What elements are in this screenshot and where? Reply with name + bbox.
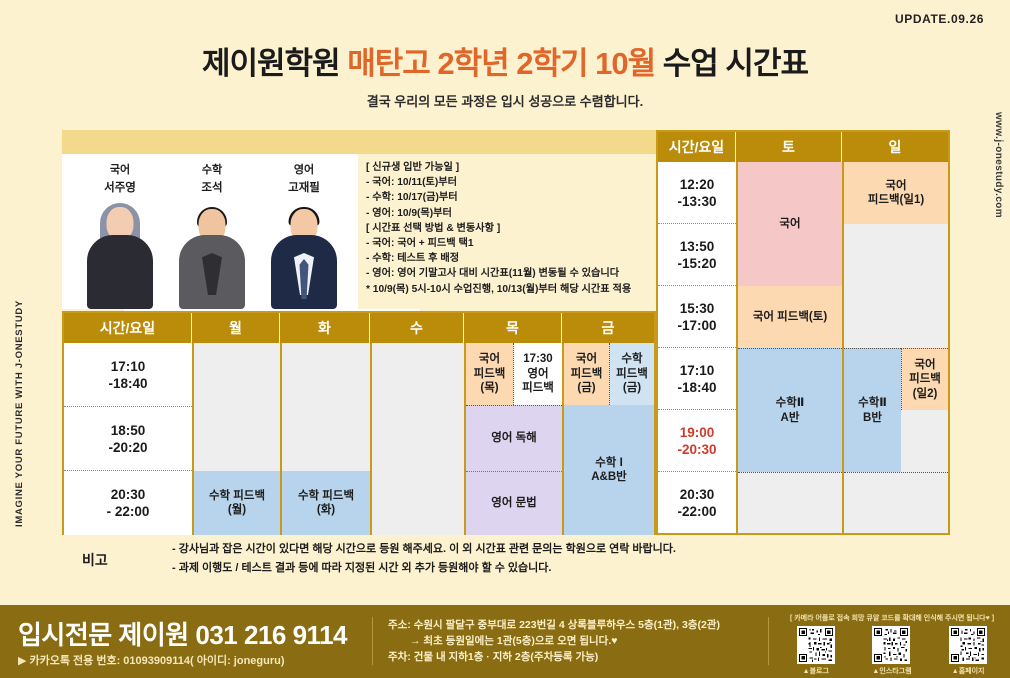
cell-sun-empty-mid xyxy=(901,410,948,472)
instructor-name: 서주영 xyxy=(74,179,166,195)
weekend-time-row-2: 13:50 -15:20 xyxy=(658,224,736,286)
qr-section: [ 카메라 어플로 접속 희망 큐알 코드를 확대해 인식해 주시면 됩니다♥ … xyxy=(778,613,1006,676)
body-shape xyxy=(87,235,153,309)
cell-fri-math1-ab: 수학 I A&B반 xyxy=(564,405,654,535)
instructor-card-korean: 국어 서주영 xyxy=(74,161,166,309)
cell-fri-math-feedback: 수학 피드백 (금) xyxy=(609,343,654,405)
time-end: -22:00 xyxy=(677,503,716,520)
notes-panel: [ 신규생 입반 가능일 ] - 국어: 10/11(토)부터 - 수학: 10… xyxy=(358,154,656,309)
cell-line: B반 xyxy=(863,411,882,426)
qr-item-homepage[interactable]: ▲홈페이지 xyxy=(949,626,987,676)
weekend-table-header-row: 시간/요일 토 일 xyxy=(658,132,948,162)
weekend-schedule-table: 시간/요일 토 일 12:20 -13:30 13:50 -15:20 15:3… xyxy=(656,130,950,535)
weekend-header-sun: 일 xyxy=(842,132,948,162)
cell-line: (목) xyxy=(480,381,498,396)
footer-bar: 입시전문 제이원 031 216 9114 ▶ 카카오톡 전용 번호: 0109… xyxy=(0,605,1010,678)
page-title: 제이원학원 매탄고 2학년 2학기 10월 수업 시간표 xyxy=(0,38,1010,83)
weekend-time-row-4: 17:10 -18:40 xyxy=(658,348,736,410)
footer-divider-2 xyxy=(768,617,769,665)
time-start: 18:50 xyxy=(111,422,146,439)
time-start: 13:50 xyxy=(680,238,715,255)
weekday-header-wed: 수 xyxy=(370,313,464,343)
cell-thu-english-grammar: 영어 문법 xyxy=(466,471,562,535)
cell-line: 수학 xyxy=(621,352,642,367)
title-lead: 제이원학원 xyxy=(202,46,347,81)
notes-line: [ 시간표 선택 방법 & 변동사항 ] xyxy=(366,221,648,236)
instructor-figure xyxy=(166,199,258,309)
notes-line: * 10/9(목) 5시-10시 수업진행, 10/13(월)부터 해당 시간표… xyxy=(366,282,648,297)
cell-line: 피드백 xyxy=(909,372,941,387)
cell-sun-korean-feedback-2: 국어 피드백 (일2) xyxy=(901,348,948,410)
cell-sun-empty-bottom xyxy=(844,472,948,533)
time-start: 19:00 xyxy=(680,424,715,441)
cell-line: (일2) xyxy=(913,387,938,402)
cell-thu-english-feedback: 17:30 영어 피드백 xyxy=(513,343,562,405)
instructor-subject: 국어 xyxy=(74,161,166,177)
cell-line: 영어 독해 xyxy=(491,431,537,446)
qr-caption: ▲홈페이지 xyxy=(949,666,987,676)
notes-line: - 수학: 10/17(금)부터 xyxy=(366,190,648,205)
cell-line: A반 xyxy=(781,411,800,426)
time-end: -18:40 xyxy=(677,379,716,396)
cell-line: 국어 xyxy=(779,217,800,232)
cell-line: 국어 xyxy=(479,352,500,367)
cell-line: (월) xyxy=(228,503,246,518)
footer-kakao: ▶ 카카오톡 전용 번호: 01093909114( 아이디: joneguru… xyxy=(18,652,285,668)
time-end: -20:30 xyxy=(677,441,716,458)
time-start: 17:10 xyxy=(111,358,146,375)
side-website-right: www.j-onestudy.com xyxy=(993,112,1004,218)
instructor-card-english: 영어 고재필 xyxy=(258,161,350,309)
instructor-lineup: 국어 서주영 수학 조석 영어 고재필 xyxy=(62,154,358,309)
weekday-header-time: 시간/요일 xyxy=(64,313,192,343)
qr-code-icon[interactable] xyxy=(797,626,835,664)
cell-thu-korean-feedback: 국어 피드백 (목) xyxy=(466,343,513,405)
qr-caption: ▲인스타그램 xyxy=(872,666,911,676)
weekend-time-row-3: 15:30 -17:00 xyxy=(658,286,736,348)
side-slogan-left: IMAGINE YOUR FUTURE WITH J-ONESTUDY xyxy=(14,300,25,527)
qr-code-icon[interactable] xyxy=(872,626,910,664)
qr-code-svg xyxy=(799,628,833,662)
instructor-figure xyxy=(74,199,166,309)
weekday-time-row-3: 20:30 - 22:00 xyxy=(64,471,192,535)
time-start: 15:30 xyxy=(680,300,715,317)
weekend-time-row-1: 12:20 -13:30 xyxy=(658,162,736,224)
cell-line: 수학Ⅱ xyxy=(858,396,887,411)
cell-line: 피드백 xyxy=(616,367,648,382)
footer-address: 주소: 수원시 팔달구 중부대로 223번길 4 상록블루하우스 5층(1관),… xyxy=(388,617,720,665)
remarks-label: 비고 xyxy=(82,550,108,570)
weekday-time-row-2: 18:50 -20:20 xyxy=(64,407,192,471)
qr-note: [ 카메라 어플로 접속 희망 큐알 코드를 확대해 인식해 주시면 됩니다♥ … xyxy=(778,613,1006,623)
instructor-name: 고재필 xyxy=(258,179,350,195)
cell-line: 피드백(일1) xyxy=(868,193,924,208)
weekend-header-sat: 토 xyxy=(736,132,842,162)
cell-sun-korean-feedback-1: 국어 피드백(일1) xyxy=(844,162,948,224)
weekday-header-tue: 화 xyxy=(280,313,370,343)
remarks-line: - 강사님과 잡은 시간이 있다면 해당 시간으로 등원 해주세요. 이 외 시… xyxy=(172,540,782,559)
time-end: -15:20 xyxy=(677,255,716,272)
weekday-table-body: 17:10 -18:40 18:50 -20:20 20:30 - 22:00 … xyxy=(64,343,654,535)
schedule-poster: UPDATE.09.26 제이원학원 매탄고 2학년 2학기 10월 수업 시간… xyxy=(0,0,1010,678)
section-band: 매탄고 2학년 강사 라인업 매탄고 2학년 시간표 참고사항 xyxy=(62,130,656,154)
qr-caption: ▲블로그 xyxy=(797,666,835,676)
cell-tue-math-feedback: 수학 피드백 (화) xyxy=(282,471,370,535)
cell-tue-empty xyxy=(282,343,370,471)
cell-line: 17:30 xyxy=(523,352,552,367)
weekend-header-time: 시간/요일 xyxy=(658,132,736,162)
cell-line: 수학 피드백 xyxy=(298,489,354,504)
weekday-schedule-table: 시간/요일 월 화 수 목 금 17:10 -18:40 18:50 -20:2… xyxy=(62,311,656,535)
qr-item-instagram[interactable]: ▲인스타그램 xyxy=(872,626,911,676)
instructor-card-math: 수학 조석 xyxy=(166,161,258,309)
footer-phone: 입시전문 제이원 031 216 9114 xyxy=(18,615,347,652)
cell-line: 수학 I xyxy=(595,456,623,471)
cell-line: 영어 xyxy=(527,367,548,382)
cell-line: A&B반 xyxy=(591,470,627,485)
time-end: - 22:00 xyxy=(107,503,150,520)
cell-line: 국어 xyxy=(914,358,935,373)
remarks-section: 비고 - 강사님과 잡은 시간이 있다면 해당 시간으로 등원 해주세요. 이 … xyxy=(62,540,782,578)
weekday-header-thu: 목 xyxy=(464,313,562,343)
cell-line: (화) xyxy=(317,503,335,518)
instructor-name: 조석 xyxy=(166,179,258,195)
cell-line: 피드백 xyxy=(474,367,506,382)
remarks-list: - 강사님과 잡은 시간이 있다면 해당 시간으로 등원 해주세요. 이 외 시… xyxy=(172,540,782,578)
title-tail: 수업 시간표 xyxy=(655,46,808,81)
instructor-subject: 영어 xyxy=(258,161,350,177)
cell-sun-math2-b: 수학Ⅱ B반 xyxy=(844,348,901,472)
cell-line: 수학 피드백 xyxy=(209,489,265,504)
weekend-time-row-5: 19:00 -20:30 xyxy=(658,410,736,472)
title-highlight: 매탄고 2학년 2학기 10월 xyxy=(347,46,655,81)
weekday-time-row-1: 17:10 -18:40 xyxy=(64,343,192,407)
footer-divider-1 xyxy=(372,617,373,665)
page-subtitle: 결국 우리의 모든 과정은 입시 성공으로 수렴합니다. xyxy=(0,91,1010,110)
qr-code-svg xyxy=(951,628,985,662)
cell-sat-korean: 국어 xyxy=(738,162,842,286)
instructor-figure xyxy=(258,199,350,309)
cell-line: 피드백 xyxy=(571,367,603,382)
time-start: 17:10 xyxy=(680,362,715,379)
update-label: UPDATE.09.26 xyxy=(895,12,984,26)
notes-line: - 국어: 10/11(토)부터 xyxy=(366,175,648,190)
cell-line: 국어 피드백(토) xyxy=(753,310,827,325)
cell-line: 수학Ⅱ xyxy=(776,396,805,411)
weekday-header-mon: 월 xyxy=(192,313,280,343)
notes-line: - 수학: 테스트 후 배정 xyxy=(366,251,648,266)
cell-sat-korean-feedback: 국어 피드백(토) xyxy=(738,286,842,348)
remarks-line: - 과제 이행도 / 테스트 결과 등에 따라 지정된 시간 외 추가 등원해야… xyxy=(172,559,782,578)
cell-line: (금) xyxy=(577,381,595,396)
cell-sun-empty-top xyxy=(844,224,948,348)
time-end: -17:00 xyxy=(677,317,716,334)
time-end: -18:40 xyxy=(108,375,147,392)
instructor-subject: 수학 xyxy=(166,161,258,177)
cell-mon-math-feedback: 수학 피드백 (월) xyxy=(194,471,280,535)
time-start: 12:20 xyxy=(680,176,715,193)
cell-line: (금) xyxy=(623,381,641,396)
time-start: 20:30 xyxy=(111,486,146,503)
qr-code-svg xyxy=(874,628,908,662)
cell-line: 국어 xyxy=(576,352,597,367)
qr-item-blog[interactable]: ▲블로그 xyxy=(797,626,835,676)
time-end: -13:30 xyxy=(677,193,716,210)
qr-list: ▲블로그 xyxy=(778,626,1006,676)
cell-line: 영어 문법 xyxy=(491,496,537,511)
weekday-header-fri: 금 xyxy=(562,313,654,343)
cell-wed-empty xyxy=(372,343,464,535)
cell-line: 피드백 xyxy=(522,381,554,396)
weekend-time-row-6: 20:30 -22:00 xyxy=(658,472,736,533)
notes-line: - 영어: 영어 기말고사 대비 시간표(11월) 변동될 수 있습니다 xyxy=(366,266,648,281)
qr-code-icon[interactable] xyxy=(949,626,987,664)
weekend-table-body: 12:20 -13:30 13:50 -15:20 15:30 -17:00 1… xyxy=(658,162,948,533)
time-start: 20:30 xyxy=(680,486,715,503)
cell-sat-math2-a: 수학Ⅱ A반 xyxy=(738,348,842,472)
weekday-table-header-row: 시간/요일 월 화 수 목 금 xyxy=(64,313,654,343)
notes-line: [ 신규생 입반 가능일 ] xyxy=(366,160,648,175)
footer-address-line: → 최초 등원일에는 1관(5층)으로 오면 됩니다.♥ xyxy=(388,633,720,649)
cell-line: 국어 xyxy=(885,179,906,194)
time-end: -20:20 xyxy=(108,439,147,456)
footer-address-line: 주차: 건물 내 지하1층 · 지하 2층(주차등록 가능) xyxy=(388,649,720,665)
notes-line: - 국어: 국어 + 피드백 택1 xyxy=(366,236,648,251)
notes-line: - 영어: 10/9(목)부터 xyxy=(366,206,648,221)
cell-thu-english-reading: 영어 독해 xyxy=(466,405,562,471)
cell-mon-empty xyxy=(194,343,280,471)
footer-address-line: 주소: 수원시 팔달구 중부대로 223번길 4 상록블루하우스 5층(1관),… xyxy=(388,617,720,633)
cell-sat-empty xyxy=(738,472,842,533)
cell-fri-korean-feedback: 국어 피드백 (금) xyxy=(564,343,609,405)
